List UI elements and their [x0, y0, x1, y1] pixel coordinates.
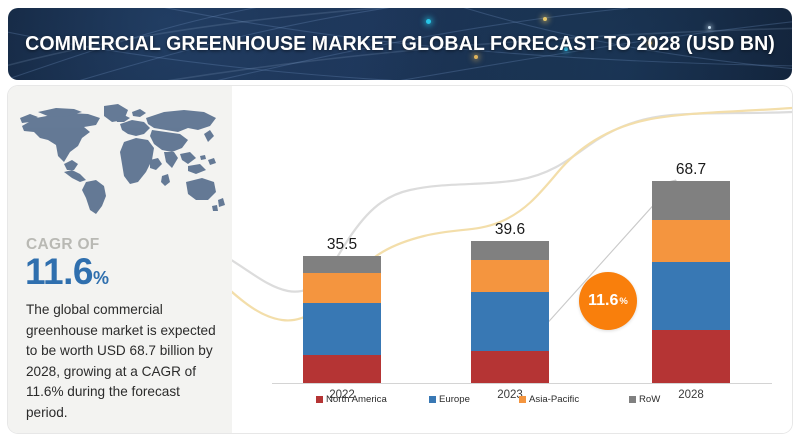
legend-label: RoW	[639, 394, 660, 405]
bar-2028[interactable]	[652, 181, 730, 383]
legend-item-europe[interactable]: Europe	[429, 394, 470, 405]
bar-segment-asia-pacific	[652, 220, 730, 262]
bar-total-label: 35.5	[303, 236, 381, 254]
left-summary-panel: CAGR OF 11.6% The global commercial gree…	[8, 86, 232, 433]
legend-swatch-icon	[429, 396, 436, 403]
legend-label: Asia-Pacific	[529, 394, 579, 405]
legend-item-north-america[interactable]: North America	[316, 394, 387, 405]
chart-panel: 35.5 2022 39.6 2023 68.7	[232, 86, 792, 433]
cagr-callout-badge: 11.6%	[579, 272, 637, 330]
chart-legend: North America Europe Asia-Pacific RoW	[284, 394, 764, 410]
bar-segment-asia-pacific	[303, 273, 381, 303]
legend-item-row[interactable]: RoW	[629, 394, 660, 405]
header-banner: COMMERCIAL GREENHOUSE MARKET GLOBAL FORE…	[8, 8, 792, 80]
legend-item-asia-pacific[interactable]: Asia-Pacific	[519, 394, 579, 405]
legend-label: Europe	[439, 394, 470, 405]
bar-segment-north-america	[652, 330, 730, 383]
bar-2023[interactable]	[471, 241, 549, 383]
bar-segment-row	[652, 181, 730, 220]
bar-segment-north-america	[471, 351, 549, 383]
legend-label: North America	[326, 394, 387, 405]
cagr-callout-percent: %	[619, 296, 627, 307]
page-title: COMMERCIAL GREENHOUSE MARKET GLOBAL FORE…	[26, 8, 775, 80]
bar-segment-europe	[471, 292, 549, 351]
bar-segment-row	[303, 256, 381, 273]
bar-segment-europe	[303, 303, 381, 355]
bar-segment-europe	[652, 262, 730, 330]
summary-description: The global commercial greenhouse market …	[26, 300, 222, 423]
bar-segment-asia-pacific	[471, 260, 549, 292]
bar-total-label: 68.7	[652, 161, 730, 179]
content-card: CAGR OF 11.6% The global commercial gree…	[8, 86, 792, 433]
infographic-root: COMMERCIAL GREENHOUSE MARKET GLOBAL FORE…	[0, 0, 800, 441]
cagr-percent-symbol: %	[93, 268, 109, 288]
cagr-callout-value: 11.6	[588, 292, 618, 310]
bar-total-label: 39.6	[471, 221, 549, 239]
legend-swatch-icon	[316, 396, 323, 403]
legend-swatch-icon	[519, 396, 526, 403]
bar-segment-north-america	[303, 355, 381, 383]
stacked-bar-plot: 35.5 2022 39.6 2023 68.7	[232, 86, 792, 433]
bar-segment-row	[471, 241, 549, 260]
bar-2022[interactable]	[303, 256, 381, 383]
cagr-number: 11.6	[25, 251, 93, 292]
legend-swatch-icon	[629, 396, 636, 403]
cagr-value: 11.6%	[25, 252, 109, 298]
world-map-icon	[12, 98, 228, 216]
